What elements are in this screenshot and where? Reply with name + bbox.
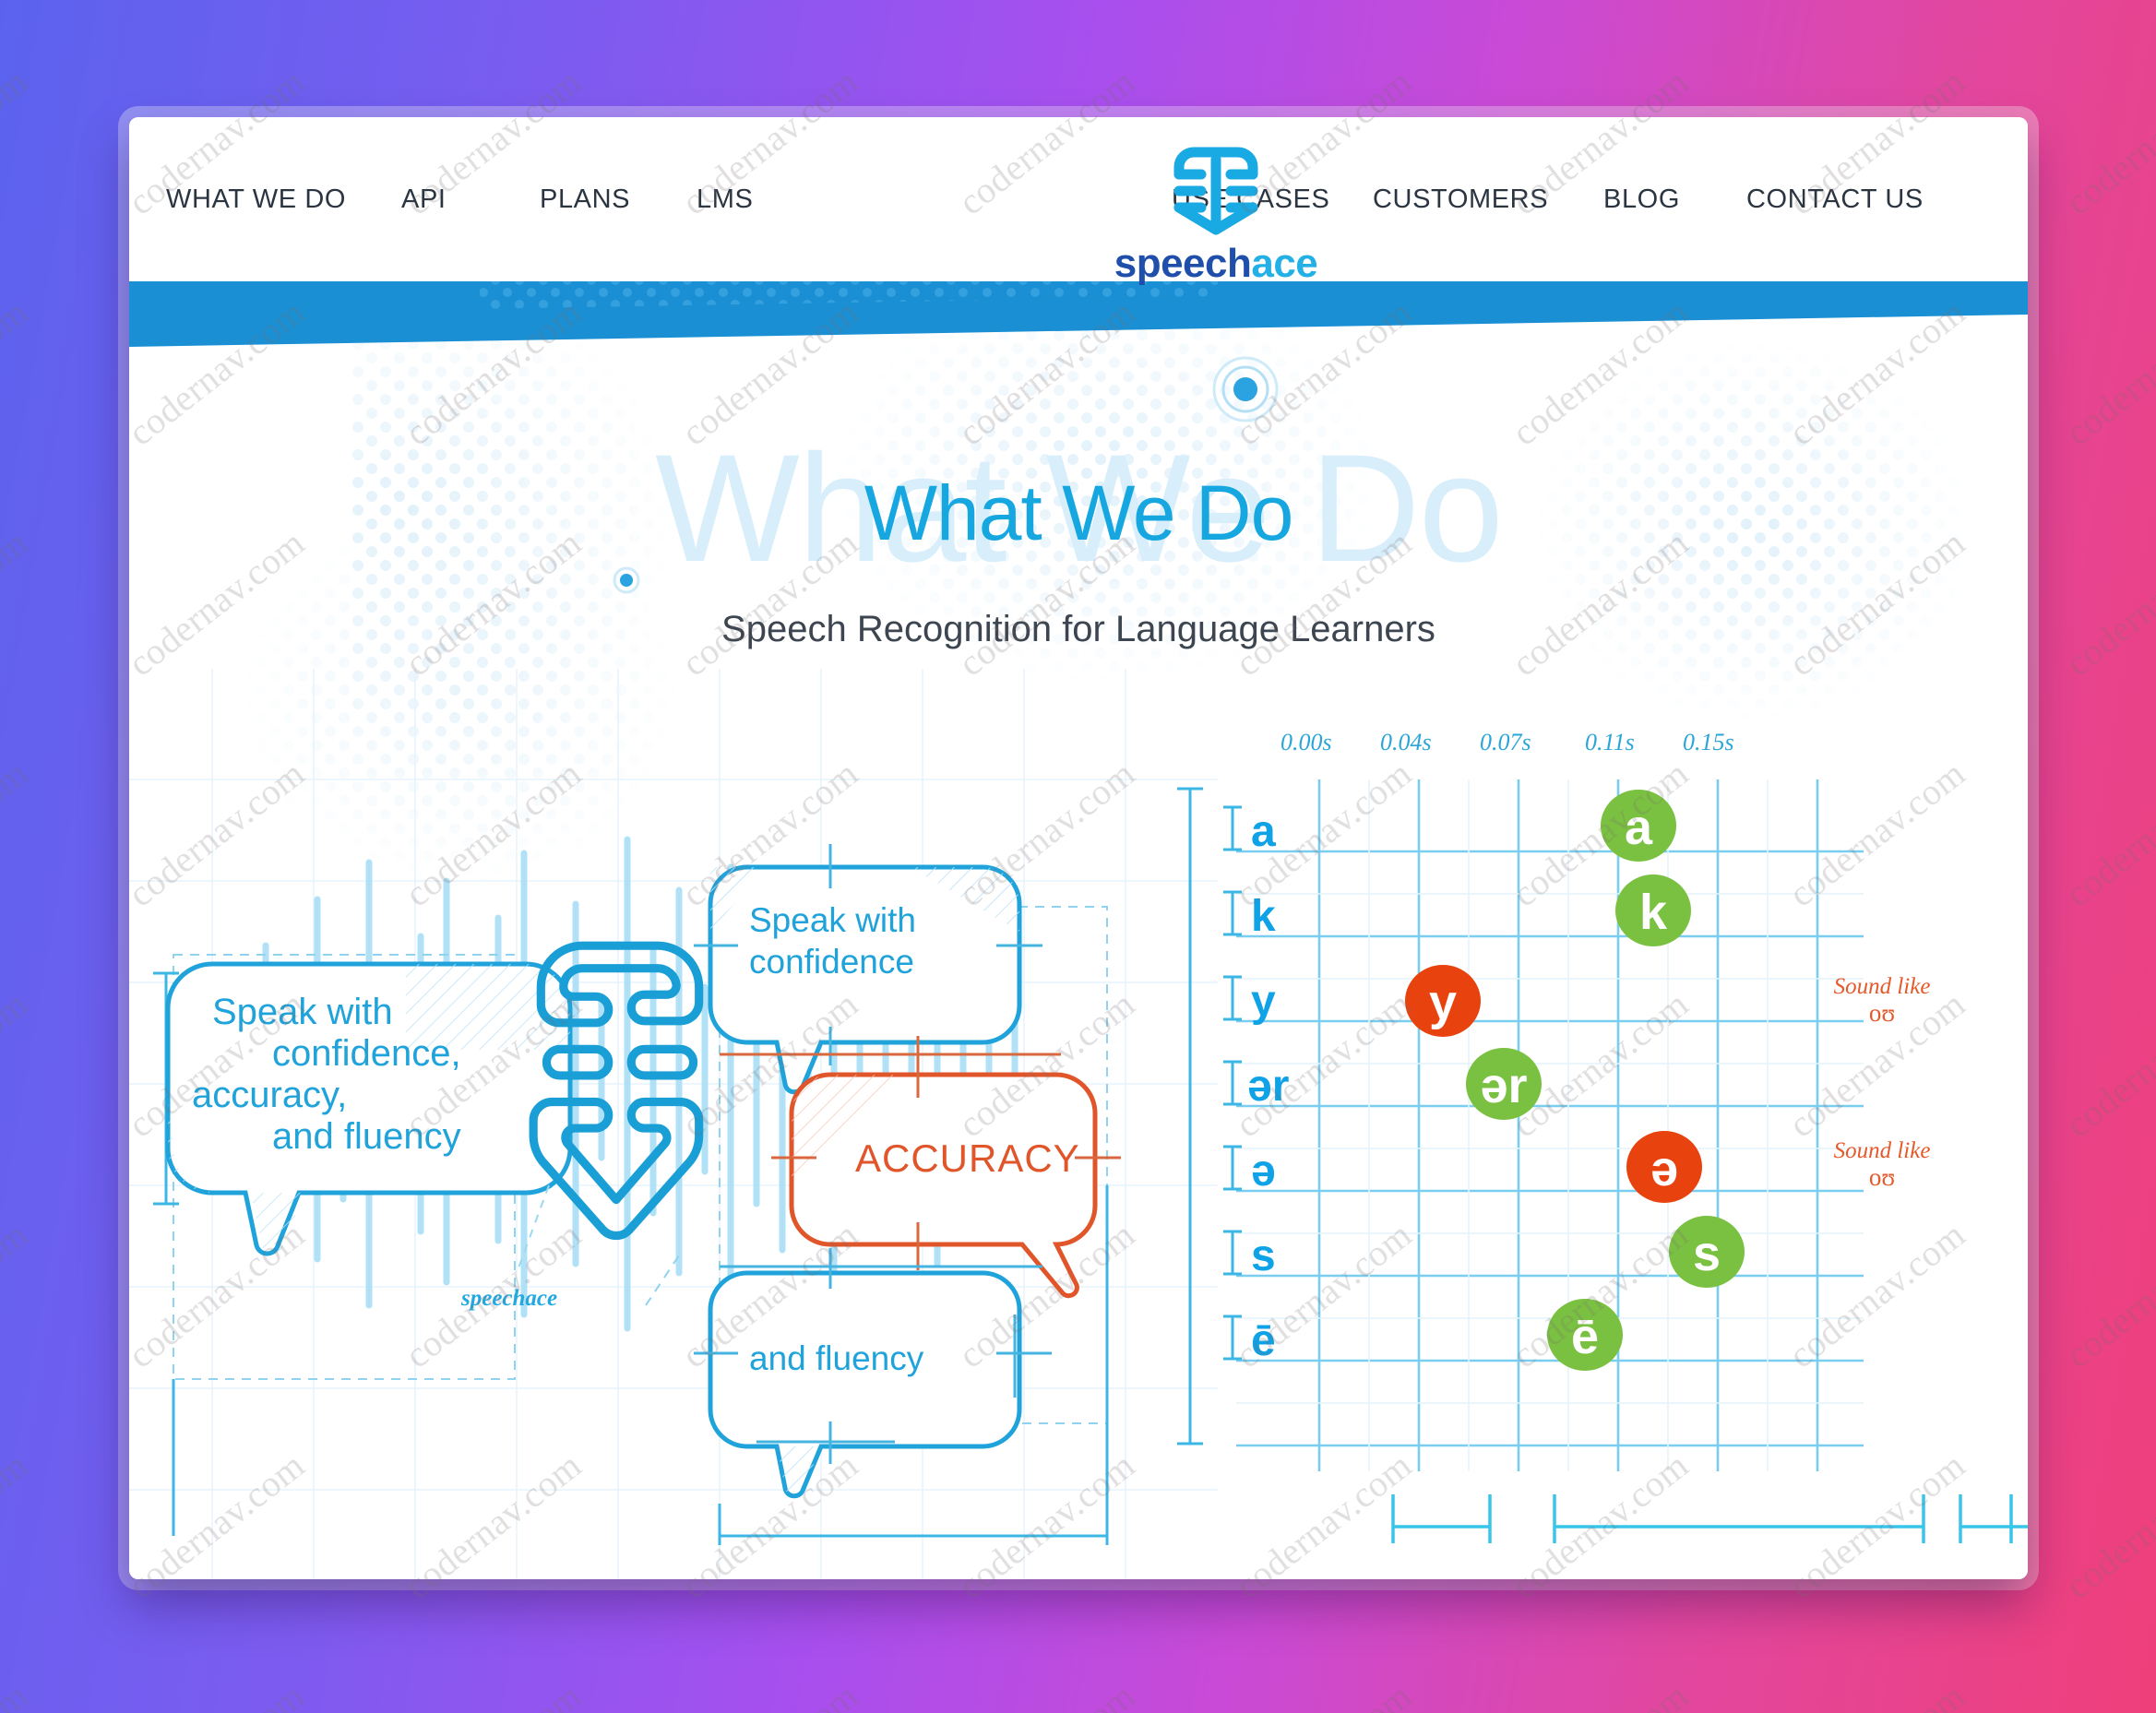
bubble-line-4: and fluency xyxy=(272,1116,461,1157)
bubble-accuracy-label: ACCURACY xyxy=(855,1136,1080,1180)
watermark-text: codernav.com xyxy=(673,1674,866,1713)
chart-annotation-1: Sound like oʊ xyxy=(1834,974,1931,1027)
watermark-text: codernav.com xyxy=(0,1444,36,1608)
bubble-conf-line-1: Speak with xyxy=(749,901,916,939)
data-point-label: ə xyxy=(1650,1141,1678,1196)
watermark-text: codernav.com xyxy=(0,982,36,1147)
y-cat-row-6: ē xyxy=(1223,1316,1276,1365)
data-point-k[interactable]: k xyxy=(1615,874,1691,946)
nav-plans[interactable]: PLANS xyxy=(540,184,697,215)
logo-word-speech: speech xyxy=(1114,241,1252,286)
speechace-caption: speechace xyxy=(460,1185,557,1311)
watermark-text: codernav.com xyxy=(0,291,36,455)
pulse-dot-icon xyxy=(1195,339,1296,440)
data-point-label: a xyxy=(1625,800,1653,855)
bubble-fluency-label: and fluency xyxy=(749,1339,924,1377)
y-label-2: y xyxy=(1251,977,1276,1026)
nav-contact-us[interactable]: CONTACT US xyxy=(1746,184,1924,215)
annotation-ipa: oʊ xyxy=(1869,1163,1895,1191)
nav-customers[interactable]: CUSTOMERS xyxy=(1373,184,1603,215)
watermark-text: codernav.com xyxy=(950,1674,1143,1713)
site-logo[interactable]: speechace xyxy=(1110,134,1322,287)
data-point-label: ē xyxy=(1571,1309,1599,1364)
nav-api[interactable]: API xyxy=(401,184,540,215)
watermark-text: codernav.com xyxy=(1227,1674,1420,1713)
data-point-er[interactable]: ər xyxy=(1466,1048,1542,1120)
bubble-and-fluency: and fluency xyxy=(694,1248,1052,1496)
pulse-dot-icon xyxy=(604,558,649,602)
watermark-text: codernav.com xyxy=(1504,1674,1697,1713)
y-label-4: ə xyxy=(1251,1147,1276,1196)
watermark-text: codernav.com xyxy=(0,521,36,685)
bubble-line-2: confidence, xyxy=(272,1033,461,1074)
chart-left-axis-rail xyxy=(1177,789,1203,1444)
x-tick-0: 0.00s xyxy=(1280,729,1332,755)
nav-what-we-do[interactable]: WHAT WE DO xyxy=(166,184,401,215)
data-point-label: y xyxy=(1429,975,1457,1030)
x-tick-3: 0.11s xyxy=(1585,729,1635,755)
watermark-text: codernav.com xyxy=(2057,982,2156,1147)
y-cat-row-5: s xyxy=(1223,1231,1276,1280)
y-label-3: ər xyxy=(1247,1062,1289,1111)
watermark-text: codernav.com xyxy=(2057,1213,2156,1377)
y-cat-row-0: a xyxy=(1223,807,1276,856)
y-label-6: ē xyxy=(1251,1316,1276,1365)
chart-subgrid xyxy=(1236,779,1864,1471)
y-label-0: a xyxy=(1251,807,1276,856)
nav-group-left: WHAT WE DO API PLANS LMS xyxy=(129,184,1139,215)
bubble-line-1: Speak with xyxy=(212,992,393,1032)
banner-wedge xyxy=(129,274,2028,348)
y-label-5: s xyxy=(1251,1231,1276,1280)
watermark-text: codernav.com xyxy=(2057,1444,2156,1608)
watermark-text: codernav.com xyxy=(2057,1674,2156,1713)
y-cat-row-4: ə xyxy=(1223,1147,1276,1196)
data-point-label: k xyxy=(1639,885,1668,940)
bubble-conf-line-2: confidence xyxy=(749,943,914,981)
chart-dimension-rails xyxy=(1393,1494,2028,1543)
caption-text: speechace xyxy=(460,1286,557,1311)
x-tick-2: 0.07s xyxy=(1480,729,1531,755)
x-tick-1: 0.04s xyxy=(1380,729,1432,755)
hero-section: What We Do What We Do Speech Recognition… xyxy=(129,281,2028,1579)
watermark-text: codernav.com xyxy=(1781,1674,1973,1713)
y-cat-row-1: k xyxy=(1223,892,1276,941)
site-navigation: WHAT WE DO API PLANS LMS USE CASES CUSTO… xyxy=(129,117,2028,281)
data-point-a[interactable]: a xyxy=(1601,790,1676,862)
data-point-e-macron[interactable]: ē xyxy=(1547,1299,1623,1371)
watermark-text: codernav.com xyxy=(120,1674,313,1713)
data-point-label: s xyxy=(1693,1226,1721,1281)
watermark-text: codernav.com xyxy=(0,60,36,224)
logo-word-ace: ace xyxy=(1251,241,1317,286)
phoneme-timing-chart: 0.00s 0.04s 0.07s 0.11s 0.15s a k xyxy=(1177,729,2028,1543)
data-point-y[interactable]: y xyxy=(1405,965,1481,1037)
watermark-text: codernav.com xyxy=(2057,521,2156,685)
data-point-s[interactable]: s xyxy=(1669,1216,1745,1288)
watermark-text: codernav.com xyxy=(0,752,36,916)
chart-data-points: a k y ər ə xyxy=(1405,790,1745,1371)
y-cat-row-2: y xyxy=(1223,977,1276,1026)
watermark-text: codernav.com xyxy=(2057,752,2156,916)
watermark-text: codernav.com xyxy=(0,1213,36,1377)
annotation-text: Sound like xyxy=(1834,974,1931,999)
chart-y-categories: a k y ər ə xyxy=(1223,807,1289,1365)
logo-wordmark: speechace xyxy=(1114,241,1318,287)
watermark-text: codernav.com xyxy=(2057,60,2156,224)
bubble-line-3: accuracy, xyxy=(192,1075,347,1115)
page-title: What We Do xyxy=(129,469,2028,558)
watermark-text: codernav.com xyxy=(2057,291,2156,455)
chart-x-tick-labels: 0.00s 0.04s 0.07s 0.11s 0.15s xyxy=(1280,729,1734,755)
watermark-text: codernav.com xyxy=(0,1674,36,1713)
microphone-icon xyxy=(1161,134,1271,237)
annotation-text: Sound like xyxy=(1834,1138,1931,1163)
nav-lms[interactable]: LMS xyxy=(697,184,844,215)
chart-grid xyxy=(1236,779,1864,1471)
hero-subtitle: Speech Recognition for Language Learners xyxy=(129,609,2028,650)
x-tick-4: 0.15s xyxy=(1683,729,1734,755)
nav-blog[interactable]: BLOG xyxy=(1603,184,1746,215)
data-point-label: ər xyxy=(1480,1058,1527,1113)
data-point-schwa[interactable]: ə xyxy=(1626,1131,1702,1203)
annotation-ipa: oʊ xyxy=(1869,999,1895,1027)
watermark-text: codernav.com xyxy=(397,1674,590,1713)
speech-analysis-illustration: Speak with confidence, accuracy, and flu… xyxy=(129,669,2028,1579)
y-cat-row-3: ər xyxy=(1223,1062,1289,1111)
browser-window: WHAT WE DO API PLANS LMS USE CASES CUSTO… xyxy=(129,117,2028,1579)
chart-annotation-2: Sound like oʊ xyxy=(1834,1138,1931,1191)
y-label-1: k xyxy=(1251,892,1276,941)
